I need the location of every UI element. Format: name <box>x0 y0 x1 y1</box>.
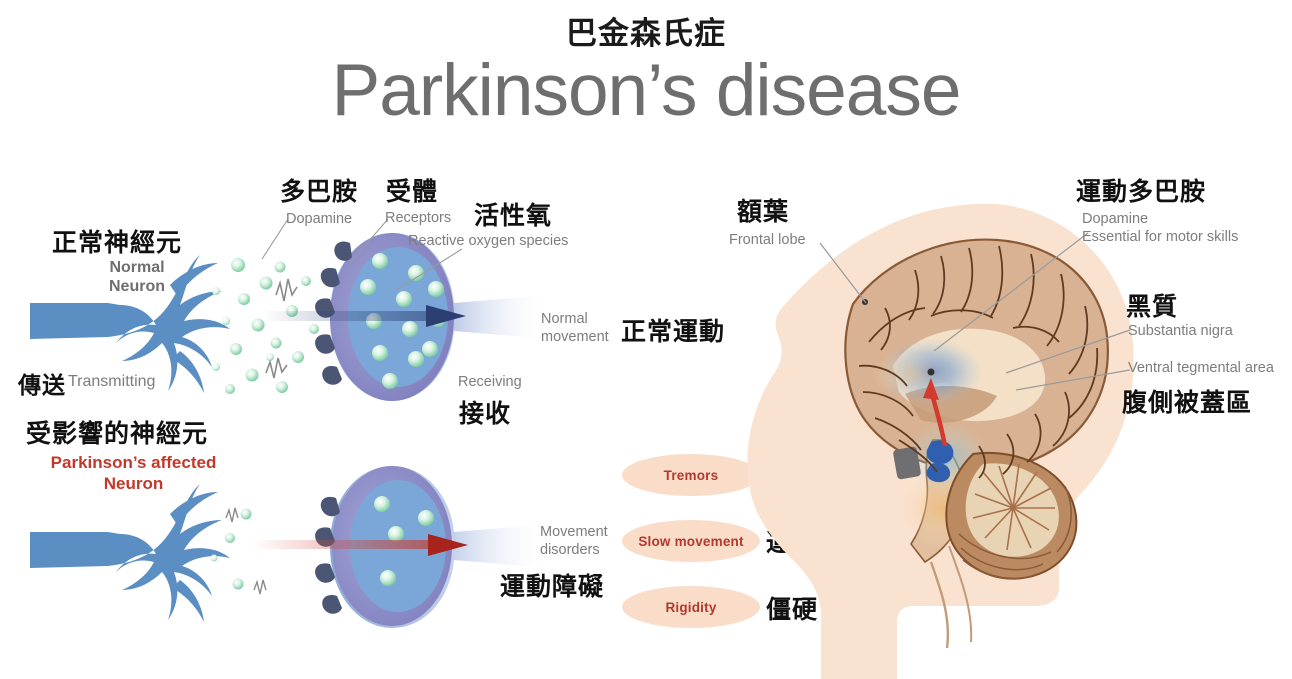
label-frontal-lobe-en: Frontal lobe <box>729 231 806 249</box>
label-movement-disorders-en-line2: disorders <box>540 541 608 559</box>
leader-frontal-lobe <box>820 243 866 303</box>
label-receptors-zh: 受體 <box>386 172 438 208</box>
label-normal-neuron-en-line1: Normal <box>82 258 192 277</box>
label-ventral-tegmental-en: Ventral tegmental area <box>1128 359 1274 377</box>
label-reactive-oxygen-en: Reactive oxygen species <box>408 232 568 250</box>
symptom-pill-tremors-label: Tremors <box>664 468 719 483</box>
leader-ventral-tegmental <box>1016 370 1130 390</box>
label-receiving-zh: 接收 <box>459 394 511 430</box>
label-ventral-tegmental-zh: 腹側被蓋區 <box>1122 383 1252 419</box>
label-affected-neuron-en-line1: Parkinson’s affected <box>26 452 241 473</box>
signal-beam <box>262 311 432 321</box>
label-normal-neuron-zh: 正常神經元 <box>52 223 182 259</box>
page-title-english: Parkinson’s disease <box>0 52 1292 131</box>
leader-receptors <box>350 219 388 263</box>
label-transmitting-zh: 傳送 <box>18 366 66 400</box>
label-substantia-nigra-en: Substantia nigra <box>1128 322 1233 340</box>
infographic-root: 巴金森氏症 Parkinson’s disease <box>0 0 1292 679</box>
affected-receiving-terminal <box>252 466 550 628</box>
label-normal-movement-en-line2: movement <box>541 328 609 346</box>
label-frontal-lobe-zh: 額葉 <box>737 192 789 228</box>
label-normal-movement-zh: 正常運動 <box>621 312 725 348</box>
label-normal-neuron-en: Normal Neuron <box>82 258 192 296</box>
label-motor-dopamine-zh: 運動多巴胺 <box>1076 172 1206 208</box>
midbrain-block <box>893 446 922 480</box>
label-receiving-en: Receiving <box>458 373 522 391</box>
leader-substantia-nigra <box>1006 330 1130 373</box>
leader-reactive-oxygen <box>398 249 462 289</box>
label-normal-neuron-en-line2: Neuron <box>82 277 192 296</box>
label-substantia-nigra-zh: 黑質 <box>1126 287 1178 323</box>
symptom-pill-rigidity-label: Rigidity <box>665 600 716 615</box>
symptom-pill-slow-movement-label: Slow movement <box>638 534 743 549</box>
label-normal-movement-en: Normal movement <box>541 310 609 346</box>
leader-lines-brain <box>800 225 1180 395</box>
label-dopamine-zh: 多巴胺 <box>280 172 358 208</box>
label-movement-disorders-zh: 運動障礙 <box>500 567 604 603</box>
label-affected-neuron-zh: 受影響的神經元 <box>26 414 208 450</box>
signal-beam-affected <box>252 540 438 549</box>
label-motor-dopamine-en: Dopamine Essential for motor skills <box>1082 210 1238 246</box>
label-dopamine-en: Dopamine <box>286 210 352 228</box>
affected-neuron-body <box>30 484 230 620</box>
label-receptors-en: Receptors <box>385 209 451 227</box>
label-affected-neuron-en: Parkinson’s affected Neuron <box>26 452 241 495</box>
label-movement-disorders-en-line1: Movement <box>540 523 608 541</box>
label-normal-movement-en-line1: Normal <box>541 310 609 328</box>
label-movement-disorders-en: Movement disorders <box>540 523 608 559</box>
label-transmitting-en: Transmitting <box>68 372 155 392</box>
label-affected-neuron-en-line2: Neuron <box>26 473 241 494</box>
label-reactive-oxygen-zh: 活性氧 <box>474 196 552 232</box>
page-title-chinese: 巴金森氏症 <box>0 8 1292 53</box>
leader-dopamine <box>262 219 288 259</box>
label-motor-dopamine-en-line2: Essential for motor skills <box>1082 228 1238 246</box>
label-motor-dopamine-en-line1: Dopamine <box>1082 210 1238 228</box>
leader-motor-dopamine <box>934 233 1088 351</box>
